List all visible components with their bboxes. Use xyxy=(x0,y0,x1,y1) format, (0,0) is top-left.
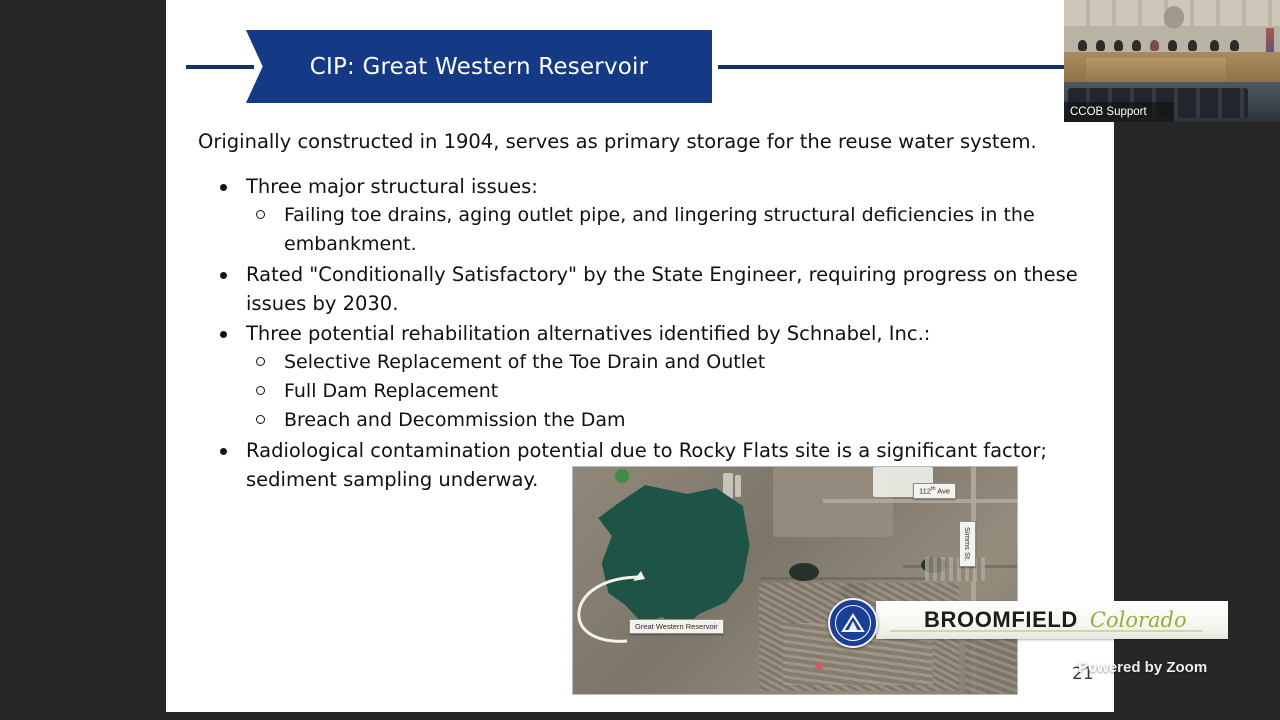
person-silhouette xyxy=(1168,40,1177,51)
sub-bullet-list: Failing toe drains, aging outlet pipe, a… xyxy=(246,201,1078,259)
brand-state-name: Colorado xyxy=(1090,608,1187,632)
person-silhouette xyxy=(1210,40,1219,51)
title-ribbon-shape: CIP: Great Western Reservoir xyxy=(246,30,712,103)
slide-lede: Originally constructed in 1904, serves a… xyxy=(198,128,1078,156)
list-item: Full Dam Replacement xyxy=(254,377,1078,406)
list-item: Failing toe drains, aging outlet pipe, a… xyxy=(254,201,1078,259)
participant-name-label: CCOB Support xyxy=(1064,102,1174,122)
screen-share-backdrop: CIP: Great Western Reservoir Originally … xyxy=(0,0,1280,720)
seal-inner-ring xyxy=(835,605,871,641)
list-item: Rated "Conditionally Satisfactory" by th… xyxy=(216,260,1078,318)
vegetation-patch xyxy=(615,469,629,483)
mountain-glyph-icon xyxy=(841,613,865,633)
map-label-great-western-reservoir: Great Western Reservoir xyxy=(629,619,724,634)
video-participant-tile[interactable]: CCOB Support xyxy=(1064,0,1280,122)
broomfield-brand-banner: BROOMFIELD Colorado xyxy=(876,601,1228,639)
person-silhouette xyxy=(1114,40,1123,51)
broomfield-city-seal-icon xyxy=(828,598,878,648)
slide-body: Originally constructed in 1904, serves a… xyxy=(198,128,1078,495)
slide-title-banner: CIP: Great Western Reservoir xyxy=(166,0,1114,120)
title-ribbon-fill: CIP: Great Western Reservoir xyxy=(246,30,712,103)
bullet-text: Rated "Conditionally Satisfactory" by th… xyxy=(246,260,1078,318)
bullet-text: Three major structural issues: xyxy=(246,172,1078,201)
bullet-list: Three major structural issues: Failing t… xyxy=(198,172,1078,494)
person-silhouette xyxy=(1230,40,1239,51)
sub-bullet-list: Selective Replacement of the Toe Drain a… xyxy=(246,348,1078,435)
person-silhouette xyxy=(1132,40,1141,51)
map-label-avenue-number: 112 xyxy=(919,487,931,496)
list-item: Selective Replacement of the Toe Drain a… xyxy=(254,348,1078,377)
person-silhouette xyxy=(1150,40,1159,51)
list-item: Breach and Decommission the Dam xyxy=(254,406,1078,435)
bullet-text: Three potential rehabilitation alternati… xyxy=(246,319,1078,348)
person-silhouette xyxy=(1096,40,1105,51)
chamber-wall-seal-icon xyxy=(1164,6,1184,28)
map-marker xyxy=(815,663,823,669)
aerial-map-image: 112th Ave Simms St. Great Western Reserv… xyxy=(572,466,1018,695)
title-rule-left xyxy=(186,65,254,69)
commercial-texture xyxy=(925,557,985,581)
page-title: CIP: Great Western Reservoir xyxy=(310,54,649,80)
list-item: Three major structural issues: Failing t… xyxy=(216,172,1078,259)
person-silhouette xyxy=(1188,40,1197,51)
map-label-avenue-tail: Ave xyxy=(936,487,950,496)
council-dais-front xyxy=(1086,58,1226,84)
title-rule-right xyxy=(718,65,1114,69)
map-label-112th-ave: 112th Ave xyxy=(913,483,956,499)
map-label-simms-st: Simms St. xyxy=(959,521,976,567)
map-terrain xyxy=(573,467,1017,694)
person-silhouette xyxy=(1078,40,1087,51)
brand-city-name: BROOMFIELD xyxy=(924,607,1078,633)
zoom-watermark: Powered by Zoom xyxy=(1078,659,1207,676)
list-item: Three potential rehabilitation alternati… xyxy=(216,319,1078,435)
